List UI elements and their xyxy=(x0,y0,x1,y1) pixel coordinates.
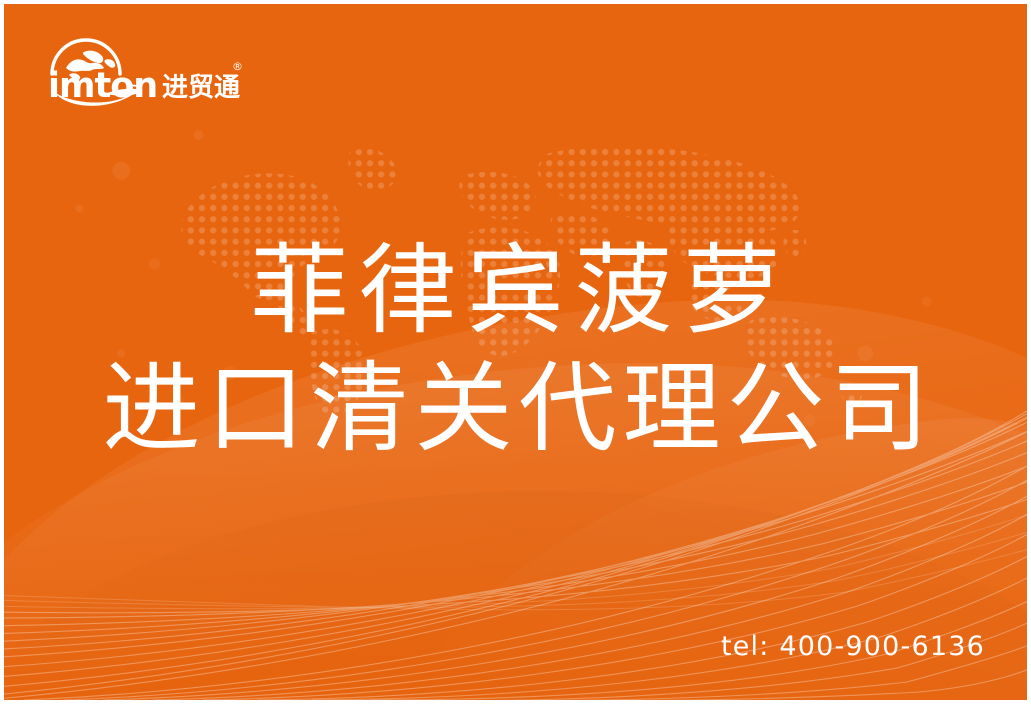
headline: 菲律宾菠萝 进口清关代理公司 xyxy=(4,232,1027,468)
headline-line-1: 菲律宾菠萝 xyxy=(4,232,1027,350)
logo-wordmark: imton 进贸通 ® xyxy=(48,60,243,106)
logo-latin-text: imton xyxy=(48,66,157,106)
telephone-text: tel: 400-900-6136 xyxy=(721,631,985,662)
trademark-icon: ® xyxy=(232,60,243,73)
logo-chinese-text: 进贸通 xyxy=(162,73,240,103)
headline-line-2: 进口清关代理公司 xyxy=(4,350,1027,468)
wave-shade xyxy=(0,491,1031,704)
imton-logo[interactable]: imton 进贸通 ® xyxy=(44,30,244,108)
promotional-banner: imton 进贸通 ® 菲律宾菠萝 进口清关代理公司 tel: 400-900-… xyxy=(0,0,1031,704)
